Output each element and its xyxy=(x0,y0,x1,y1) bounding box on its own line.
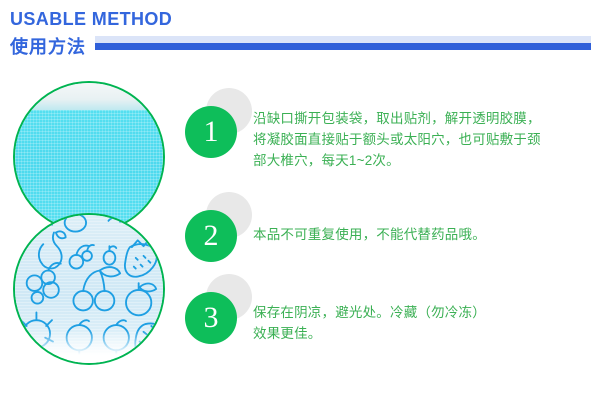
instruction-steps-list: 1 沿缺口撕开包装袋，取出贴剂，解开透明胶膜， 将凝胶面直接贴于额头或太阳穴，也… xyxy=(185,0,600,418)
step-number-label: 1 xyxy=(185,106,237,158)
step-number-badge: 3 xyxy=(185,274,255,346)
step-number-label: 3 xyxy=(185,292,237,344)
product-image-group xyxy=(0,0,185,418)
step-number-badge: 2 xyxy=(185,192,255,264)
gel-sheet-photo xyxy=(13,81,165,233)
fruit-pattern-backing-photo xyxy=(13,213,165,365)
step-description: 沿缺口撕开包装袋，取出贴剂，解开透明胶膜， 将凝胶面直接贴于额头或太阳穴，也可贴… xyxy=(253,108,593,171)
step-description: 本品不可重复使用，不能代替药品哦。 xyxy=(253,224,593,245)
step-number-label: 2 xyxy=(185,210,237,262)
step-number-badge: 1 xyxy=(185,88,255,160)
gel-sheet-top-edge xyxy=(15,83,163,110)
step-description: 保存在阴凉，避光处。冷藏（勿冷冻） 效果更佳。 xyxy=(253,302,593,344)
backing-bottom-fade xyxy=(15,330,163,363)
